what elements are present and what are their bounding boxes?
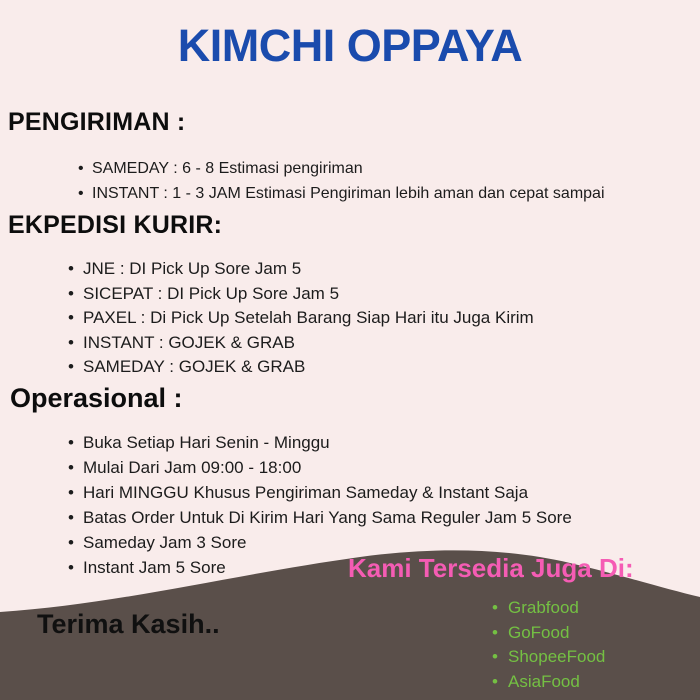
page-title: KIMCHI OPPAYA (0, 22, 700, 69)
availability-heading: Kami Tersedia Juga Di: (348, 553, 634, 584)
bullet-icon: • (68, 455, 74, 480)
list-item: • Batas Order Untuk Di Kirim Hari Yang S… (68, 505, 572, 530)
list-item-label: SICEPAT : DI Pick Up Sore Jam 5 (83, 282, 339, 307)
list-item-label: Batas Order Untuk Di Kirim Hari Yang Sam… (83, 505, 572, 530)
list-item-label: Buka Setiap Hari Senin - Minggu (83, 430, 330, 455)
platform-label: Grabfood (508, 598, 579, 617)
bullet-icon: • (68, 355, 74, 380)
platform-label: ShopeeFood (508, 647, 605, 666)
list-item: • GoFood (492, 621, 605, 646)
list-item: • INSTANT : GOJEK & GRAB (68, 331, 534, 356)
platform-label: AsiaFood (508, 672, 580, 691)
list-item-label: Sameday Jam 3 Sore (83, 530, 246, 555)
bullet-icon: • (68, 306, 74, 331)
list-delivery-platforms: • Grabfood • GoFood • ShopeeFood • AsiaF… (492, 596, 605, 694)
list-item: • SICEPAT : DI Pick Up Sore Jam 5 (68, 282, 534, 307)
list-item: • Sameday Jam 3 Sore (68, 530, 572, 555)
list-item: • AsiaFood (492, 670, 605, 695)
list-item-label: Instant Jam 5 Sore (83, 555, 226, 580)
bullet-icon: • (68, 555, 74, 580)
bullet-icon: • (492, 670, 498, 695)
list-item: • SAMEDAY : 6 - 8 Estimasi pengiriman (78, 156, 605, 181)
list-item: • ShopeeFood (492, 645, 605, 670)
list-item-label: INSTANT : GOJEK & GRAB (83, 331, 295, 356)
bullet-icon: • (68, 480, 74, 505)
thank-you-text: Terima Kasih.. (37, 609, 220, 640)
list-item-label: SAMEDAY : GOJEK & GRAB (83, 355, 305, 380)
list-item-label: INSTANT : 1 - 3 JAM Estimasi Pengiriman … (92, 181, 605, 206)
list-item-label: PAXEL : Di Pick Up Setelah Barang Siap H… (83, 306, 534, 331)
list-item: • Buka Setiap Hari Senin - Minggu (68, 430, 572, 455)
list-item-label: Mulai Dari Jam 09:00 - 18:00 (83, 455, 301, 480)
bullet-icon: • (492, 645, 498, 670)
bullet-icon: • (68, 430, 74, 455)
list-item: • Grabfood (492, 596, 605, 621)
list-item-label: Hari MINGGU Khusus Pengiriman Sameday & … (83, 480, 528, 505)
list-ekpedisi-kurir: • JNE : DI Pick Up Sore Jam 5 • SICEPAT … (68, 257, 534, 380)
list-item: • Mulai Dari Jam 09:00 - 18:00 (68, 455, 572, 480)
list-item-label: SAMEDAY : 6 - 8 Estimasi pengiriman (92, 156, 363, 181)
bullet-icon: • (78, 156, 84, 181)
list-pengiriman: • SAMEDAY : 6 - 8 Estimasi pengiriman • … (78, 156, 605, 206)
list-item: • SAMEDAY : GOJEK & GRAB (68, 355, 534, 380)
poster-canvas: KIMCHI OPPAYA PENGIRIMAN : • SAMEDAY : 6… (0, 0, 700, 700)
bullet-icon: • (68, 331, 74, 356)
bullet-icon: • (68, 257, 74, 282)
list-item: • PAXEL : Di Pick Up Setelah Barang Siap… (68, 306, 534, 331)
list-item-label: JNE : DI Pick Up Sore Jam 5 (83, 257, 301, 282)
bullet-icon: • (492, 596, 498, 621)
section-heading-ekpedisi-kurir: EKPEDISI KURIR: (8, 211, 222, 240)
list-item: • JNE : DI Pick Up Sore Jam 5 (68, 257, 534, 282)
bullet-icon: • (68, 282, 74, 307)
list-item: • INSTANT : 1 - 3 JAM Estimasi Pengirima… (78, 181, 605, 206)
platform-label: GoFood (508, 623, 569, 642)
bullet-icon: • (68, 530, 74, 555)
bullet-icon: • (492, 621, 498, 646)
section-heading-pengiriman: PENGIRIMAN : (8, 108, 185, 137)
list-item: • Hari MINGGU Khusus Pengiriman Sameday … (68, 480, 572, 505)
bullet-icon: • (68, 505, 74, 530)
bullet-icon: • (78, 181, 84, 206)
section-heading-operasional: Operasional : (10, 383, 183, 414)
